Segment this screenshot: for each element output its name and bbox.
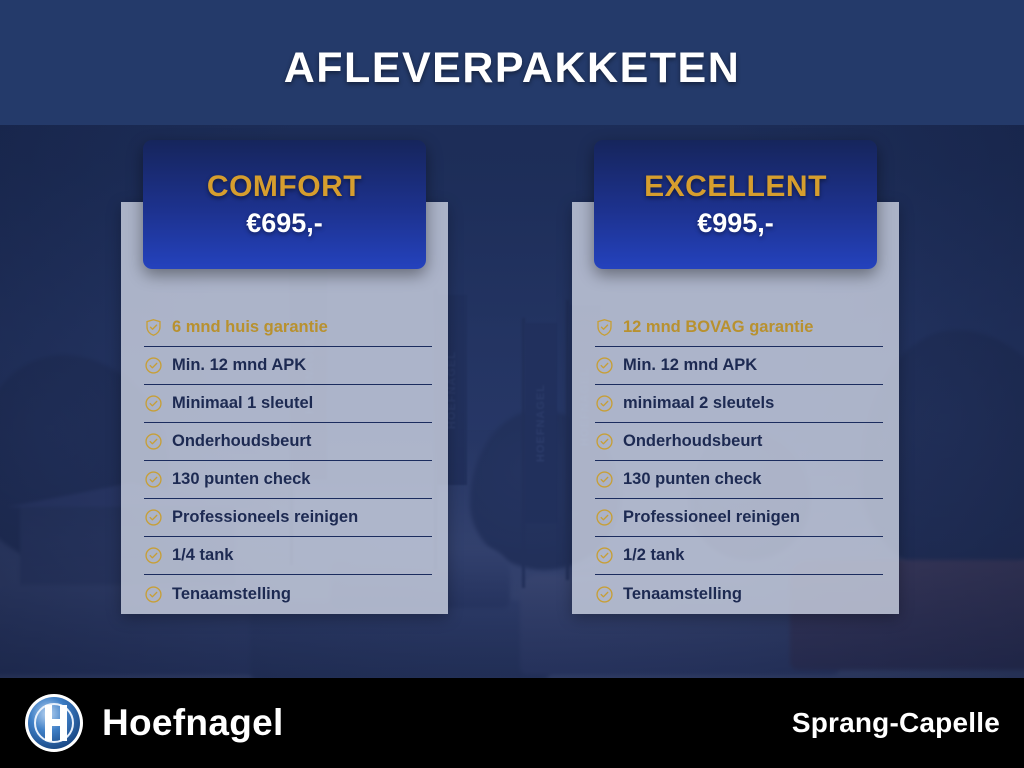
brand-name: Hoefnagel <box>102 702 284 744</box>
feature-item: Min. 12 mnd APK <box>144 347 432 385</box>
feature-label: 1/4 tank <box>172 546 233 565</box>
circle-check-icon <box>595 394 614 413</box>
package-card-excellent: EXCELLENT €995,- 12 mnd BOVAG garantie M… <box>572 202 899 614</box>
feature-label: Onderhoudsbeurt <box>623 432 762 451</box>
feature-item: Professioneels reinigen <box>144 499 432 537</box>
circle-check-icon <box>144 508 163 527</box>
feature-item: Minimaal 1 sleutel <box>144 385 432 423</box>
package-header-excellent: EXCELLENT €995,- <box>594 140 877 269</box>
feature-item: 1/2 tank <box>595 537 883 575</box>
feature-item: Tenaamstelling <box>595 575 883 613</box>
circle-check-icon <box>595 585 614 604</box>
footer-bar: Hoefnagel Sprang-Capelle <box>0 678 1024 768</box>
package-name: EXCELLENT <box>644 170 827 204</box>
circle-check-icon <box>595 508 614 527</box>
circle-check-icon <box>595 356 614 375</box>
feature-label: 130 punten check <box>623 470 761 489</box>
slide-root: HOEFNAGEL HOEFNAGEL HOEFNAGEL HOEFNAGEL … <box>0 0 1024 768</box>
circle-check-icon <box>144 585 163 604</box>
shield-check-icon <box>144 318 163 337</box>
feature-label: minimaal 2 sleutels <box>623 394 774 413</box>
feature-label: 130 punten check <box>172 470 310 489</box>
feature-list-comfort: 6 mnd huis garantie Min. 12 mnd APK Mini… <box>144 309 432 613</box>
feature-item: 130 punten check <box>595 461 883 499</box>
circle-check-icon <box>144 546 163 565</box>
feature-label: 6 mnd huis garantie <box>172 318 328 337</box>
circle-check-icon <box>144 394 163 413</box>
feature-item: 12 mnd BOVAG garantie <box>595 309 883 347</box>
feature-label: Onderhoudsbeurt <box>172 432 311 451</box>
circle-check-icon <box>144 432 163 451</box>
feature-label: Minimaal 1 sleutel <box>172 394 313 413</box>
feature-label: Tenaamstelling <box>623 585 742 604</box>
feature-item: 6 mnd huis garantie <box>144 309 432 347</box>
shield-check-icon <box>595 318 614 337</box>
package-price: €695,- <box>246 208 323 239</box>
circle-check-icon <box>144 356 163 375</box>
feature-label: Professioneel reinigen <box>623 508 800 527</box>
feature-item: 130 punten check <box>144 461 432 499</box>
package-card-comfort: COMFORT €695,- 6 mnd huis garantie Min. … <box>121 202 448 614</box>
package-price: €995,- <box>697 208 774 239</box>
feature-label: Min. 12 mnd APK <box>172 356 306 375</box>
circle-check-icon <box>595 432 614 451</box>
feature-item: 1/4 tank <box>144 537 432 575</box>
feature-label: Professioneels reinigen <box>172 508 358 527</box>
feature-label: Min. 12 mnd APK <box>623 356 757 375</box>
feature-label: 1/2 tank <box>623 546 684 565</box>
circle-check-icon <box>144 470 163 489</box>
circle-check-icon <box>595 470 614 489</box>
circle-check-icon <box>595 546 614 565</box>
feature-list-excellent: 12 mnd BOVAG garantie Min. 12 mnd APK mi… <box>595 309 883 613</box>
hoefnagel-logo-icon <box>22 691 86 755</box>
location-label: Sprang-Capelle <box>792 707 1000 739</box>
package-name: COMFORT <box>207 170 362 204</box>
feature-item: Onderhoudsbeurt <box>595 423 883 461</box>
feature-item: minimaal 2 sleutels <box>595 385 883 423</box>
feature-item: Onderhoudsbeurt <box>144 423 432 461</box>
page-title: AFLEVERPAKKETEN <box>0 44 1024 93</box>
brand-logo <box>22 691 86 755</box>
feature-label: 12 mnd BOVAG garantie <box>623 318 813 337</box>
feature-item: Tenaamstelling <box>144 575 432 613</box>
feature-item: Min. 12 mnd APK <box>595 347 883 385</box>
package-header-comfort: COMFORT €695,- <box>143 140 426 269</box>
feature-label: Tenaamstelling <box>172 585 291 604</box>
feature-item: Professioneel reinigen <box>595 499 883 537</box>
